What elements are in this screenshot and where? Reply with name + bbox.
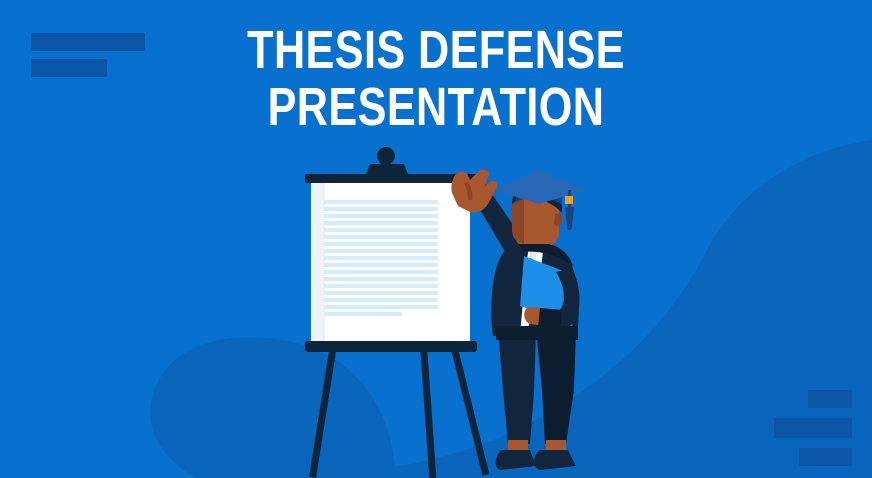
graduation-cap-tassel: [565, 207, 574, 230]
flipchart-top-rail: [305, 174, 477, 183]
person-shoe-right: [534, 450, 576, 470]
flipchart-paper-shade: [311, 180, 325, 345]
person-trousers-left: [498, 330, 536, 444]
flipchart-paper: [311, 180, 470, 345]
flipchart: [305, 147, 477, 352]
easel-leg-left: [309, 345, 337, 478]
easel-leg-center: [420, 345, 436, 478]
person-trousers-right: [536, 330, 576, 444]
person-waist: [496, 326, 578, 340]
flipchart-text-line-last: [324, 312, 402, 316]
graduation-cap-tassel-button: [565, 196, 573, 204]
person-shoe-left: [496, 450, 536, 470]
person-ear: [554, 214, 563, 226]
easel-leg-right: [450, 344, 489, 476]
illustration-layer: [0, 0, 872, 478]
flipchart-text-lines: [324, 200, 438, 316]
flipchart-bottom-tray: [305, 341, 477, 352]
flipchart-knob: [377, 147, 395, 165]
slide-canvas: THESIS DEFENSE PRESENTATION: [0, 0, 872, 478]
easel-legs: [309, 344, 489, 478]
